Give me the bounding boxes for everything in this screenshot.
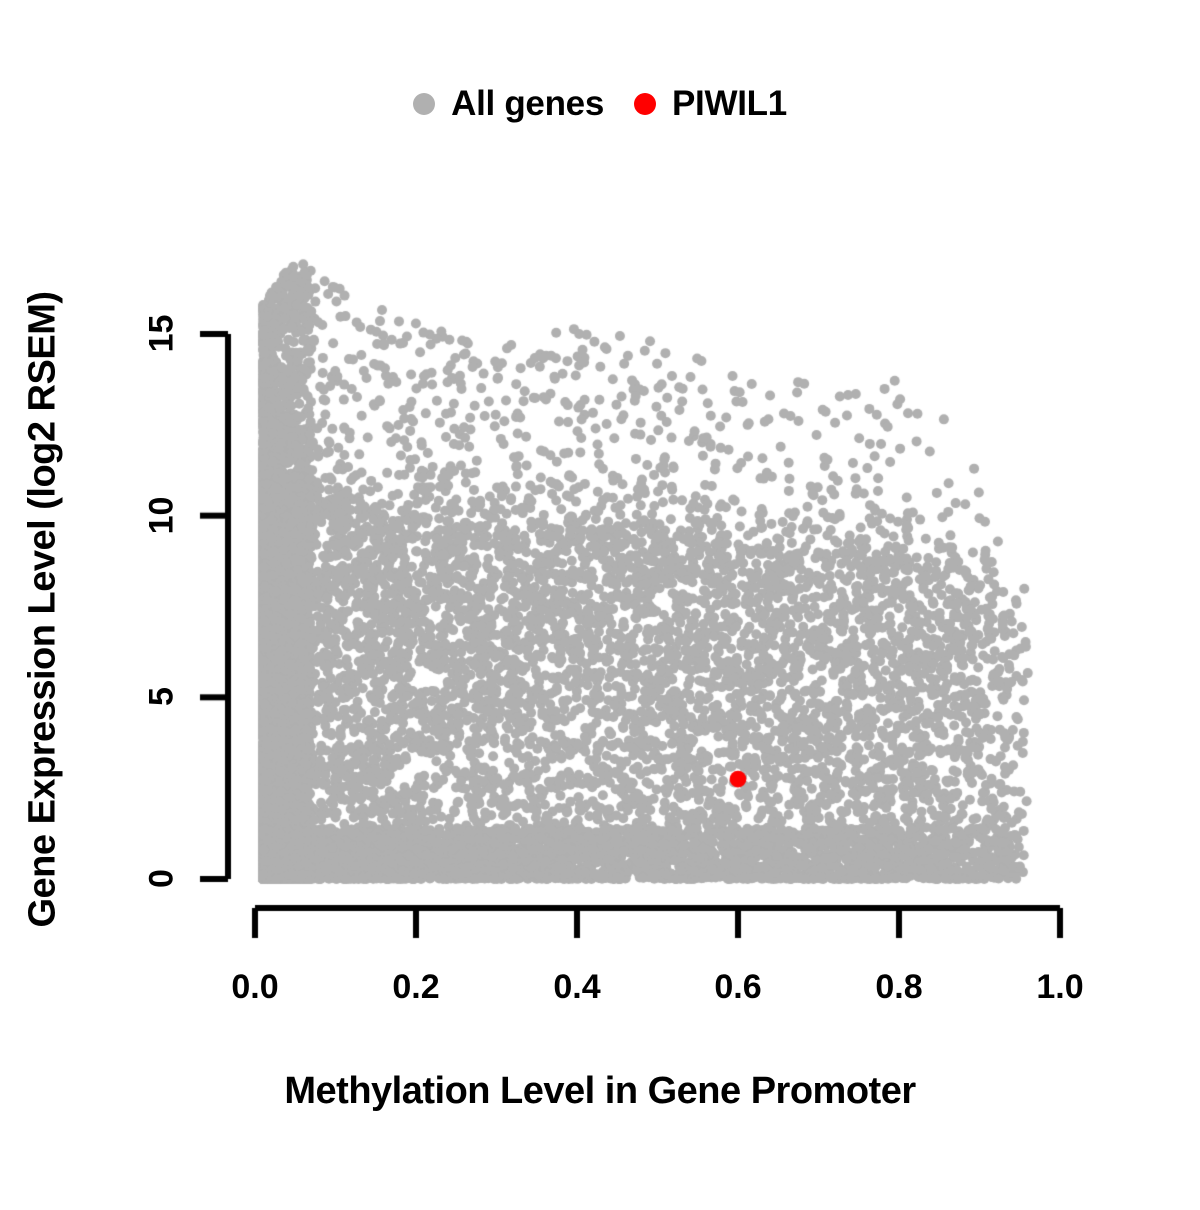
scatter-plot-canvas (0, 0, 1200, 1200)
x-tick-label: 0.8 (875, 968, 922, 1007)
x-axis-title: Methylation Level in Gene Promoter (0, 1070, 1200, 1113)
x-tick-label: 0.2 (392, 968, 439, 1007)
y-tick-label: 0 (143, 857, 182, 901)
y-tick-label: 5 (143, 675, 182, 719)
y-tick-label: 10 (143, 493, 182, 537)
x-tick-label: 1.0 (1036, 968, 1083, 1007)
y-tick-label: 15 (143, 312, 182, 356)
x-tick-label: 0.0 (231, 968, 278, 1007)
x-tick-label: 0.6 (714, 968, 761, 1007)
x-tick-label: 0.4 (553, 968, 600, 1007)
scatter-plot-figure: All genes PIWIL1 Methylation Level in Ge… (0, 0, 1200, 1200)
